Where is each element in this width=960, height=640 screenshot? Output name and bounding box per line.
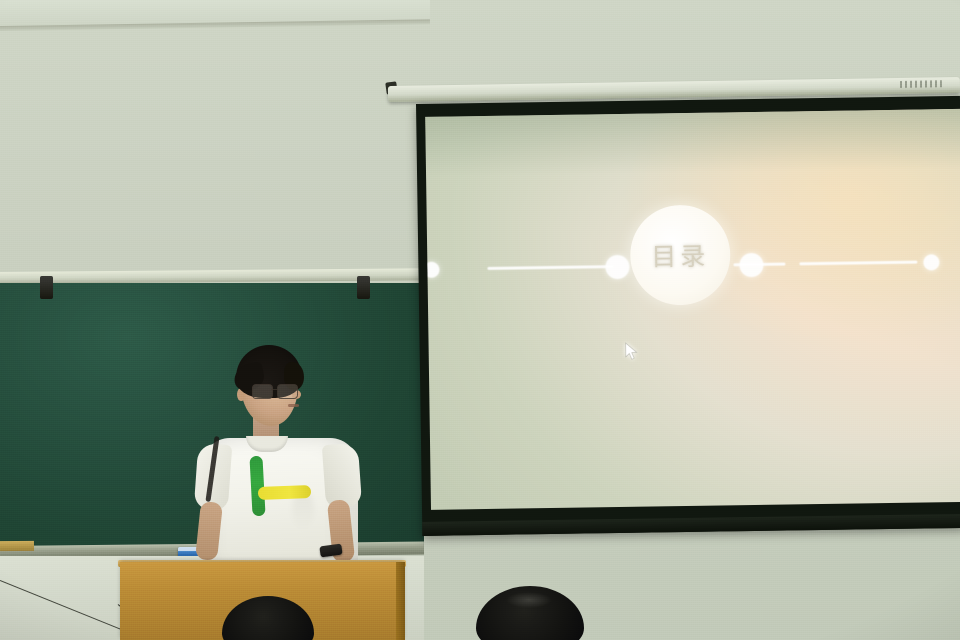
timeline-segment-4 — [799, 261, 917, 266]
timeline-dot-3 — [739, 253, 763, 277]
shirt-graphic-horizontal-bar — [258, 485, 311, 500]
timeline-dot-4 — [923, 254, 939, 270]
chalkboard-clip-right — [357, 276, 370, 299]
chalkboard-clip-left — [40, 276, 53, 299]
slide-timeline: 目录 — [427, 241, 960, 289]
classroom-photo: 目录 — [0, 0, 960, 640]
projector-glow — [425, 109, 960, 510]
timeline-dot-1 — [425, 262, 439, 278]
slide-surface[interactable]: 目录 — [425, 109, 960, 510]
timeline-dot-2 — [605, 255, 629, 279]
podium-right-edge — [396, 562, 405, 640]
mouth — [288, 404, 299, 407]
projection-screen[interactable]: 目录 — [416, 96, 960, 536]
presenter — [196, 340, 366, 570]
audience-hair-highlight — [506, 592, 552, 608]
timeline-segment-1 — [487, 265, 613, 270]
glasses-lens-left — [252, 384, 273, 399]
glasses-icon — [252, 384, 298, 397]
slide-title: 目录 — [651, 237, 710, 274]
glasses-lens-right — [277, 384, 298, 399]
tray-item-icon — [0, 541, 34, 551]
screen-top-shading — [425, 109, 960, 177]
slide-title-circle: 目录 — [630, 204, 731, 305]
housing-label-icon — [900, 80, 942, 88]
